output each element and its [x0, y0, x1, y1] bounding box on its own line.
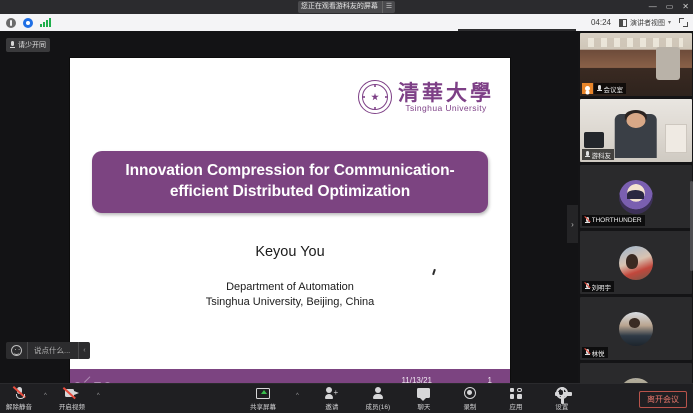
invite-label: 邀请 [325, 401, 338, 411]
unmute-label: 解除静音 [6, 401, 32, 411]
participant-tile[interactable]: 刘明宇 [580, 231, 692, 294]
minimize-button[interactable]: — [649, 0, 657, 14]
avatar [619, 312, 653, 346]
fullscreen-icon[interactable] [679, 18, 688, 27]
mic-muted-icon [585, 349, 590, 357]
speaker-view-icon [619, 19, 627, 27]
record-label: 录制 [463, 401, 476, 411]
participant-name-chip: 会议室 [594, 83, 627, 94]
host-badge-icon [582, 83, 593, 94]
tsinghua-seal-icon [358, 80, 392, 114]
chevron-left-icon[interactable]: ‹ [78, 342, 89, 359]
participants-icon [372, 387, 383, 400]
filmstrip-scrollbar[interactable] [690, 181, 693, 271]
mic-muted-icon [15, 387, 24, 400]
filmstrip-scroll-down-icon[interactable]: ⌄ [578, 373, 693, 382]
chat-button[interactable]: 聊天 [411, 387, 437, 412]
logo-english-name: Tsinghua University [398, 104, 494, 113]
apps-icon [510, 387, 522, 400]
mic-muted-icon [585, 283, 590, 291]
invite-button[interactable]: + 邀请 [319, 387, 345, 412]
participants-label: 成员(16) [366, 401, 391, 411]
participant-name: 游科友 [592, 150, 612, 160]
mic-muted-icon [585, 217, 590, 225]
maximize-button[interactable]: ▭ [666, 0, 674, 14]
meeting-clock: 04:24 [591, 18, 611, 27]
microphone-icon [10, 41, 15, 50]
start-video-label: 开启视频 [59, 401, 85, 411]
chevron-down-icon[interactable]: ▾ [668, 19, 671, 26]
presentation-slide: 清華大學 Tsinghua University Innovation Comp… [70, 58, 510, 383]
participant-name: 会议室 [604, 84, 624, 94]
toolbar-left-group: 解除静音 ^ 开启视频 ^ [6, 384, 100, 413]
participant-tile[interactable]: THORTHUNDER [580, 165, 692, 228]
settings-button[interactable]: 设置 [549, 387, 575, 412]
participant-tile[interactable]: 林悦 [580, 297, 692, 360]
avatar [619, 246, 653, 280]
slide-title-plate: Innovation Compression for Communication… [92, 151, 488, 213]
mic-status-tooltip: 请少开同 [6, 38, 50, 52]
chat-input-overlay[interactable]: 说点什么... ‹ [6, 342, 90, 359]
collapse-filmstrip-arrow[interactable]: › [567, 205, 578, 243]
apps-button[interactable]: 应用 [503, 387, 529, 412]
mic-tooltip-label: 请少开同 [18, 40, 46, 50]
slide-date: 11/13/21 [401, 376, 432, 384]
slide-body: 清華大學 Tsinghua University Innovation Comp… [70, 58, 510, 369]
share-options-caret[interactable]: ^ [296, 393, 299, 399]
record-button[interactable]: 录制 [457, 387, 483, 412]
zoom-meeting-window: 您正在观看游科友的屏幕 ☰ — ▭ ✕ 正在讲话: 陈曦, 游科友 04:24 … [0, 0, 693, 413]
view-mode-button[interactable]: 演讲者视图 ▾ [619, 18, 671, 28]
participant-name-chip: 林悦 [582, 347, 608, 358]
status-icons-group [6, 14, 51, 31]
window-controls: — ▭ ✕ [649, 0, 689, 14]
participant-name-chip: 刘明宇 [582, 281, 615, 292]
audio-options-caret[interactable]: ^ [44, 393, 47, 399]
slide-affiliation: Department of Automation Tsinghua Univer… [70, 280, 510, 310]
meeting-toolbar: 解除静音 ^ 开启视频 ^ 共享屏幕 ^ + 邀请 成员(16) [0, 383, 693, 413]
shield-icon[interactable] [6, 18, 16, 28]
list-menu-icon[interactable]: ☰ [382, 1, 392, 13]
participant-name-chip: THORTHUNDER [582, 215, 645, 226]
share-screen-icon [256, 387, 270, 400]
settings-gear-icon [556, 387, 568, 400]
sharing-notice-text: 您正在观看游科友的屏幕 [301, 1, 378, 13]
logo-chinese-name: 清華大學 [398, 82, 494, 103]
status-right-group: 04:24 演讲者视图 ▾ [591, 14, 688, 31]
slide-page-number: 1 [488, 376, 492, 384]
unmute-button[interactable]: 解除静音 [6, 387, 32, 412]
share-screen-button[interactable]: 共享屏幕 [250, 387, 276, 412]
participant-name: THORTHUNDER [592, 217, 642, 224]
toolbar-center-group: 共享屏幕 ^ + 邀请 成员(16) 聊天 录制 应用 [250, 384, 575, 413]
window-title-bar: 您正在观看游科友的屏幕 ☰ — ▭ ✕ [0, 0, 693, 14]
start-video-button[interactable]: 开启视频 [59, 387, 85, 412]
shared-screen-stage[interactable]: 请少开同 清華大學 Tsinghua University Innovation… [0, 31, 578, 383]
record-icon [464, 387, 476, 400]
tsinghua-logo: 清華大學 Tsinghua University [358, 80, 494, 114]
network-signal-icon[interactable] [40, 18, 51, 27]
slide-footer-band: 11/13/21 1 [70, 369, 510, 383]
participant-tile[interactable]: 游科友 [580, 99, 692, 162]
slide-title: Innovation Compression for Communication… [92, 161, 488, 203]
close-button[interactable]: ✕ [682, 0, 689, 14]
participant-tile[interactable]: 会议室 [580, 33, 692, 96]
meeting-status-bar: 正在讲话: 陈曦, 游科友 04:24 演讲者视图 ▾ [0, 14, 693, 31]
affiliation-line-2: Tsinghua University, Beijing, China [70, 295, 510, 310]
mouse-cursor [432, 269, 436, 275]
chat-input-placeholder[interactable]: 说点什么... [27, 342, 78, 359]
affiliation-line-1: Department of Automation [70, 280, 510, 295]
participants-button[interactable]: 成员(16) [365, 387, 391, 412]
avatar [619, 180, 653, 214]
camera-off-icon [65, 387, 79, 400]
invite-icon: + [325, 387, 338, 400]
recording-icon[interactable] [23, 18, 33, 28]
participant-name: 刘明宇 [592, 282, 612, 292]
participant-name: 林悦 [592, 348, 605, 358]
screen-sharing-notice[interactable]: 您正在观看游科友的屏幕 ☰ [298, 1, 395, 13]
logo-wordmark: 清華大學 Tsinghua University [398, 82, 494, 113]
video-options-caret[interactable]: ^ [97, 393, 100, 399]
apps-label: 应用 [509, 401, 522, 411]
participant-filmstrip[interactable]: 会议室 游科友 THORTHUNDER 刘明宇 [578, 31, 693, 383]
leave-meeting-button[interactable]: 离开会议 [639, 391, 687, 408]
slide-author: Keyou You [70, 244, 510, 260]
view-mode-label: 演讲者视图 [630, 18, 665, 28]
share-screen-label: 共享屏幕 [250, 401, 276, 411]
participant-name-chip: 游科友 [582, 149, 615, 160]
chat-label: 聊天 [417, 401, 430, 411]
microphone-icon [597, 85, 602, 93]
chat-icon [417, 387, 430, 400]
microphone-icon [585, 151, 590, 159]
emoji-icon[interactable] [11, 345, 22, 356]
